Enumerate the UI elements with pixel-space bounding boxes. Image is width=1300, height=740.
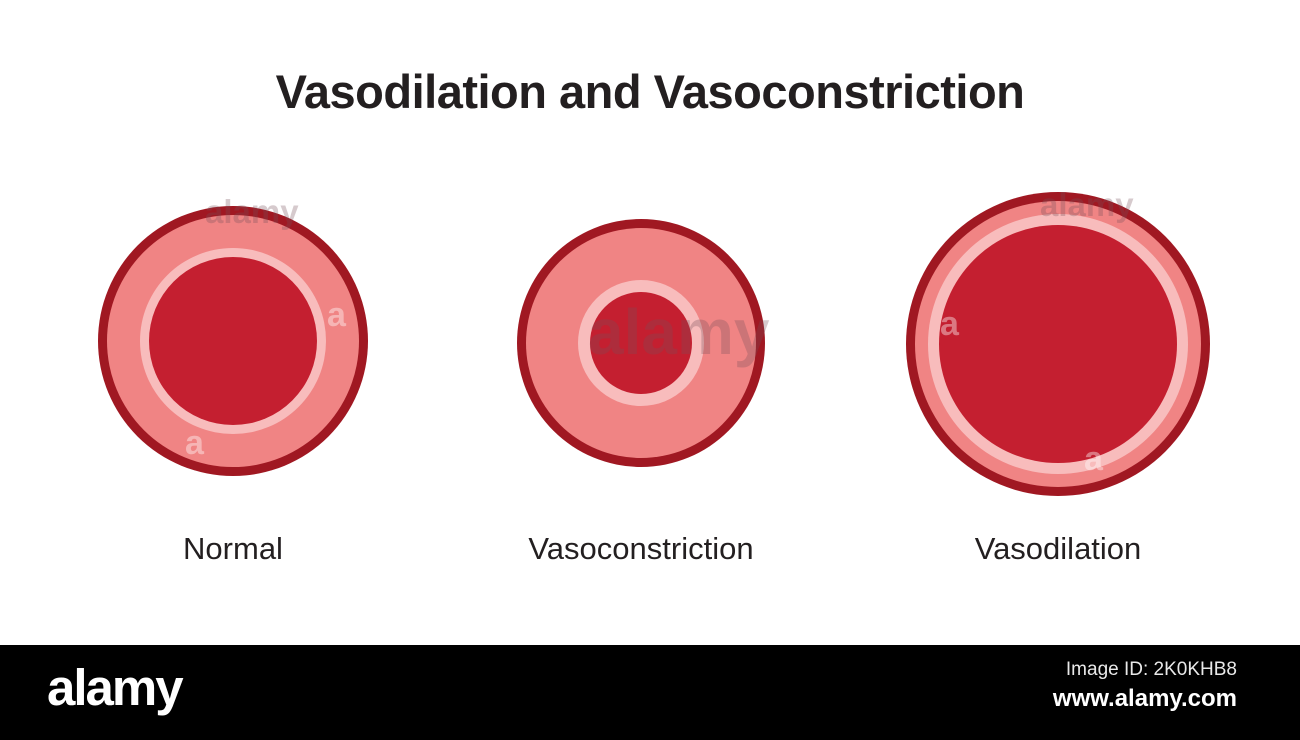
alamy-logo: alamy xyxy=(47,662,182,713)
figure-canvas: Vasodilation and Vasoconstriction Normal… xyxy=(0,0,1300,740)
vessel-vasoconstriction-cross-section xyxy=(517,219,765,467)
vessel-label-normal: Normal xyxy=(183,531,283,567)
vessel-normal-cross-section xyxy=(98,206,368,476)
vessel-label-vasoconstriction: Vasoconstriction xyxy=(528,531,753,567)
vessel-diagram: Normal Vasoconstriction Vasodilation ala… xyxy=(0,0,1300,645)
vessel-vasodilation-cross-section xyxy=(906,192,1210,496)
website-text: www.alamy.com xyxy=(1053,685,1237,713)
footer-bar: alamy Image ID: 2K0KHB8 www.alamy.com xyxy=(0,645,1300,740)
vessel-vasoconstriction: Vasoconstriction xyxy=(517,219,765,467)
vessel-normal: Normal xyxy=(98,206,368,476)
vessel-vasodilation: Vasodilation xyxy=(906,192,1210,496)
vessel-label-vasodilation: Vasodilation xyxy=(975,531,1142,567)
image-id-text: Image ID: 2K0KHB8 xyxy=(1066,659,1237,681)
